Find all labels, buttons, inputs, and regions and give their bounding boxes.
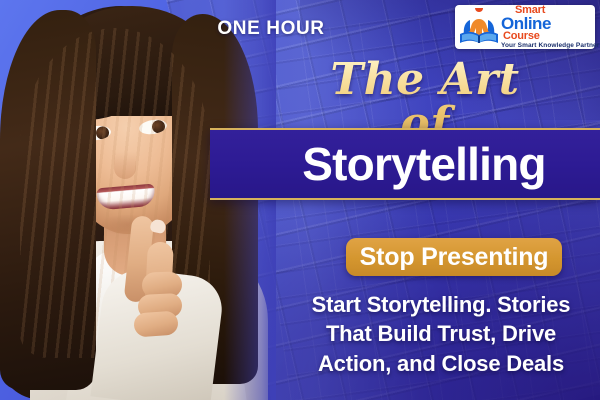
photo-edge-fade	[224, 0, 276, 400]
hand	[112, 216, 188, 338]
open-book-graduate-icon	[458, 8, 500, 46]
subcopy-line-2: That Build Trust, Drive	[288, 319, 594, 348]
duration-label: ONE HOUR	[205, 18, 337, 40]
stop-presenting-label: Stop Presenting	[360, 243, 549, 272]
subcopy-block: Start Storytelling. Stories That Build T…	[288, 290, 594, 378]
subcopy-line-3: Action, and Close Deals	[288, 349, 594, 378]
brand-logo-text: Smart Online Course Your Smart Knowledge…	[500, 5, 599, 50]
main-title: Storytelling	[264, 141, 545, 187]
thumb	[133, 310, 179, 337]
brand-tagline: Your Smart Knowledge Partner	[501, 43, 599, 50]
presenter-photo	[0, 0, 276, 400]
brand-logo[interactable]: Smart Online Course Your Smart Knowledge…	[455, 5, 595, 49]
course-promo-banner: ONE HOUR Smart Online Course Your Smart …	[0, 0, 600, 400]
fingernail	[149, 218, 166, 234]
main-title-band: Storytelling	[210, 128, 600, 200]
stop-presenting-button[interactable]: Stop Presenting	[346, 238, 562, 276]
subcopy-line-1: Start Storytelling. Stories	[288, 290, 594, 319]
brand-word-course: Course	[503, 31, 599, 42]
